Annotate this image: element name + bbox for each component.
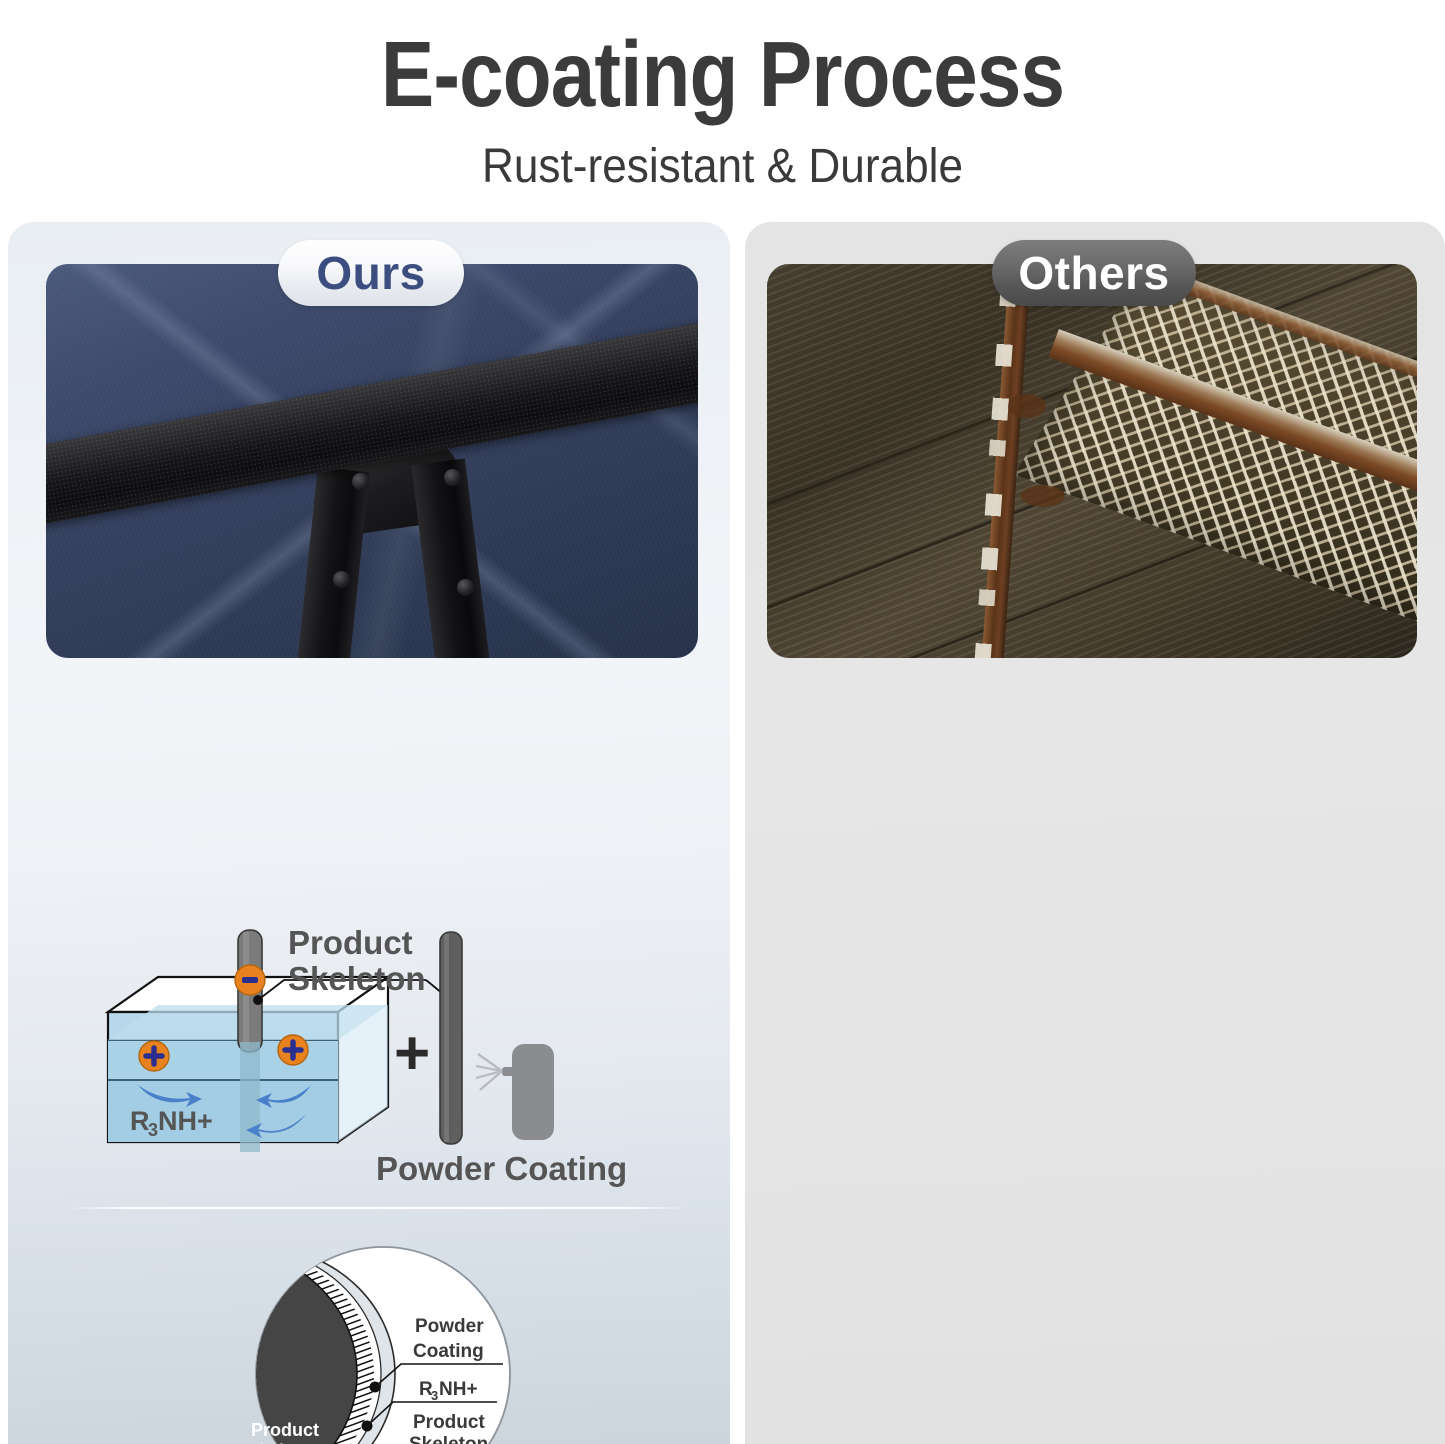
panel-ours: R 3 NH+ Product Skeleton + <box>8 222 730 1444</box>
svg-text:NH+: NH+ <box>439 1379 478 1400</box>
page-subtitle: Rust-resistant & Durable <box>58 139 1387 194</box>
svg-text:Skeleton: Skeleton <box>288 960 426 997</box>
page-title: E-coating Process <box>101 0 1344 121</box>
svg-text:Powder: Powder <box>415 1316 484 1337</box>
svg-text:R: R <box>130 1106 150 1136</box>
panel-others: Product Skeleton Powder Coating <box>745 222 1445 1444</box>
photo-ours <box>46 264 698 658</box>
diagram-cross-section-ours: Product Skeleton Powder Coating R 3 NH <box>233 1244 533 1444</box>
svg-text:Product: Product <box>413 1412 485 1433</box>
infographic-page: E-coating Process Rust-resistant & Durab… <box>0 0 1445 1444</box>
svg-text:Product: Product <box>288 924 413 961</box>
svg-text:Coating: Coating <box>413 1341 484 1362</box>
svg-text:3: 3 <box>148 1120 158 1140</box>
svg-text:+: + <box>394 1019 430 1088</box>
svg-text:3: 3 <box>431 1388 438 1403</box>
diagram-ecoating-tank: R 3 NH+ Product Skeleton + <box>98 922 718 1202</box>
header: E-coating Process Rust-resistant & Durab… <box>0 0 1445 222</box>
photo-others <box>767 264 1417 658</box>
comparison-panels: R 3 NH+ Product Skeleton + <box>0 222 1445 1444</box>
svg-text:Product: Product <box>251 1420 319 1440</box>
svg-text:NH+: NH+ <box>158 1106 213 1136</box>
badge-others: Others <box>992 240 1196 306</box>
section-divider-left <box>68 1207 688 1209</box>
svg-text:Powder Coating: Powder Coating <box>376 1150 627 1187</box>
svg-text:Skeleton: Skeleton <box>409 1434 488 1444</box>
badge-ours: Ours <box>278 240 464 306</box>
